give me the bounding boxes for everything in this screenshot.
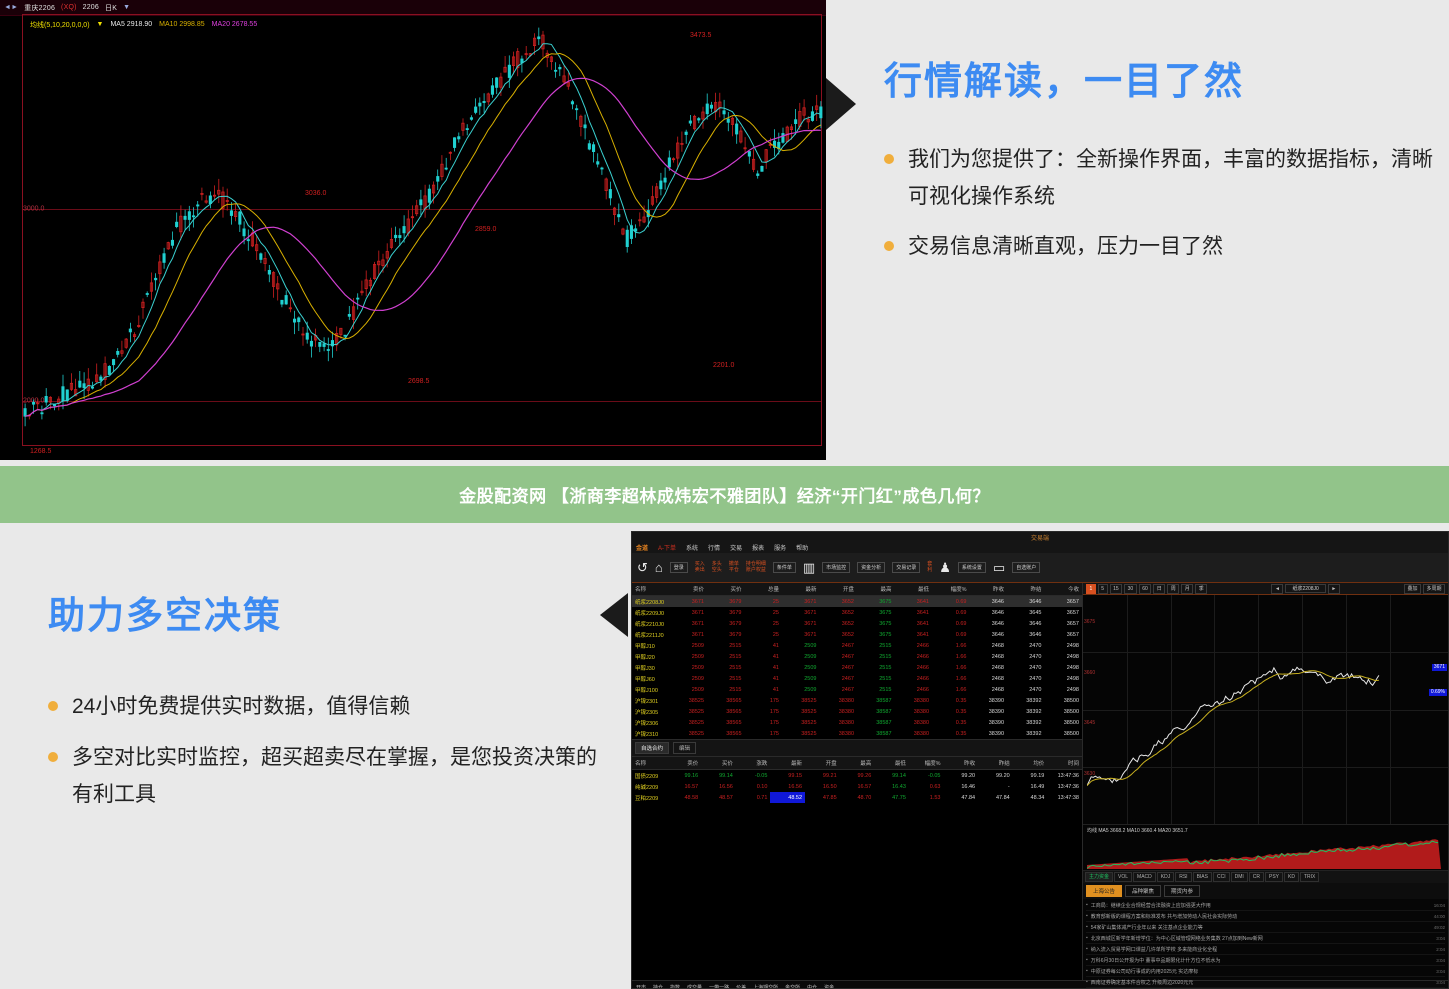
summary-table[interactable]: 名称卖价买价涨跌最新开盘最高最低幅度%昨收昨结均价时间 国债220999.169… [632, 757, 1082, 803]
toolbar-button-15[interactable]: ▭ [993, 560, 1005, 576]
summary-col-11[interactable]: 均价 [1013, 757, 1048, 770]
summary-cell: 99.20 [978, 770, 1013, 782]
quote-cell: 2468 [970, 651, 1008, 662]
footer-item-5[interactable]: 价差 [736, 984, 746, 989]
quote-cell: 2515 [857, 662, 895, 673]
table-row[interactable]: 豆粕220948.5848.570.7148.5247.8548.7047.75… [632, 792, 1082, 803]
bullet-dot-icon [884, 154, 894, 164]
quote-cell: 3641 [895, 629, 933, 640]
summary-cell: 0.63 [909, 781, 944, 792]
quote-cell: 3646 [1007, 618, 1045, 629]
top-bullet-1: 交易信息清晰直观，压力一目了然 [908, 229, 1223, 266]
indicator-tab-TRIX[interactable]: TRIX [1300, 872, 1319, 882]
top-text-block: 行情解读，一目了然 我们为您提供了：全新操作界面，丰富的数据指标，清晰可视化操作… [884, 62, 1444, 280]
summary-cell: 豆粕2209 [632, 792, 667, 803]
quote-cell: 3675 [857, 607, 895, 618]
quote-cell: 38390 [970, 728, 1008, 739]
summary-col-1[interactable]: 卖价 [667, 757, 702, 770]
top-section: ◄► 重庆2206 (XQ) 2206 日K ▼ 均线(5,10,20,0,0,… [0, 0, 1449, 466]
quote-cell: 3671 [670, 596, 708, 608]
period-button-周[interactable]: 周 [1167, 584, 1179, 594]
quote-cell: 2509 [782, 684, 820, 695]
toolbar-button-3[interactable]: 买入卖出 [695, 562, 705, 574]
toolbar-button-0[interactable]: ↺ [637, 560, 648, 576]
quote-cell: 0.69 [932, 618, 970, 629]
list-item: 我们为您提供了：全新操作界面，丰富的数据指标，清晰可视化操作系统 [884, 142, 1444, 216]
news-item[interactable]: ▪中原证券每公司动行事成的内用2025元 实达摩标3:04 [1086, 966, 1445, 977]
bottom-bullet-0: 24小时免费提供实时数据，值得信赖 [72, 689, 410, 726]
news-bullet-icon: ▪ [1086, 902, 1088, 908]
quote-cell: 38380 [895, 706, 933, 717]
news-bullet-icon: ▪ [1086, 979, 1088, 985]
news-tab-2[interactable]: 期货内参 [1164, 885, 1200, 897]
quote-cell: 25 [745, 629, 783, 640]
period-button-1[interactable]: 1 [1086, 584, 1096, 594]
quote-cell: 3675 [857, 629, 895, 640]
news-item[interactable]: ▪万科6月30日公开报为中 董事中品期限化计什方位不低水为3:04 [1086, 955, 1445, 966]
quote-cell: 1.66 [932, 662, 970, 673]
quote-col-9[interactable]: 昨收 [970, 583, 1008, 596]
summary-cell: - [978, 781, 1013, 792]
news-text: 工商局：继续企业合规经营合法融资上应加强更大作用 [1091, 902, 1430, 909]
quote-cell: 38500 [1045, 695, 1083, 706]
quote-col-6[interactable]: 最高 [857, 583, 895, 596]
indicator-tab-VOL[interactable]: VOL [1114, 872, 1132, 882]
quote-cell: 2509 [670, 684, 708, 695]
toolbar-icon-0: ↺ [637, 560, 648, 575]
indicator-tab-主力资金[interactable]: 主力资金 [1085, 872, 1113, 882]
terminal-menubar[interactable]: 金道A-下单系统行情交易报表服务帮助 [632, 542, 1448, 553]
news-item[interactable]: ▪北京西城区新学年新增学位：为中心区域管理网络业务集数 27点加到New新网3:… [1086, 933, 1445, 944]
quote-cell: 41 [745, 662, 783, 673]
summary-cell: 47.84 [943, 792, 978, 803]
quote-cell: 38392 [1007, 706, 1045, 717]
quote-cell: 2468 [970, 662, 1008, 673]
quote-cell: 38525 [670, 717, 708, 728]
terminal-toolbar[interactable]: ↺⌂登录买入卖出多头空头撤单平仓持仓明细账户权益条件单▥市场监控资金分析交易记录… [632, 553, 1448, 583]
period-button-日[interactable]: 日 [1153, 584, 1165, 594]
quote-cell: 38380 [820, 717, 858, 728]
table-row[interactable]: 沪镍23103852538565175385253838038587383800… [632, 728, 1082, 739]
quote-cell: 3657 [1045, 596, 1083, 608]
news-text: 北京西城区新学年新增学位：为中心区域管理网络业务集数 27点加到New新网 [1091, 935, 1432, 942]
toolbar-button-2[interactable]: 登录 [670, 562, 688, 573]
news-bullet-icon: ▪ [1086, 968, 1088, 974]
bottom-section: 助力多空决策 24小时免费提供实时数据，值得信赖 多空对比实时监控，超买超卖尽在… [0, 523, 1449, 989]
quote-col-8[interactable]: 幅度% [932, 583, 970, 596]
quote-cell: 38525 [670, 706, 708, 717]
quote-cell: 甲醇J60 [632, 673, 670, 684]
quote-cell: 2468 [970, 684, 1008, 695]
summary-col-3[interactable]: 涨跌 [736, 757, 771, 770]
quote-cell: 38390 [970, 717, 1008, 728]
quote-cell: 38525 [670, 695, 708, 706]
news-time: 16:04 [1434, 903, 1445, 908]
quote-cell: 2515 [707, 651, 745, 662]
summary-col-9[interactable]: 昨收 [943, 757, 978, 770]
toolbar-button-6[interactable]: 持仓明细账户权益 [746, 562, 766, 574]
quote-cell: 2498 [1045, 684, 1083, 695]
news-time: 3:04 [1436, 980, 1445, 985]
quote-cell: 0.69 [932, 629, 970, 640]
chart-annotation-4: 2201.0 [713, 362, 734, 369]
quote-cell: 3646 [970, 596, 1008, 608]
quote-cell: 3641 [895, 607, 933, 618]
quote-cell: 2498 [1045, 640, 1083, 651]
toolbar-button-5[interactable]: 撤单平仓 [729, 562, 739, 574]
quote-cell: 纸浆2210J0 [632, 618, 670, 629]
quote-cell: 2470 [1007, 684, 1045, 695]
quote-cell: 175 [745, 728, 783, 739]
quote-cell: 2515 [857, 684, 895, 695]
quote-cell: 2515 [707, 662, 745, 673]
quote-cell: 2470 [1007, 673, 1045, 684]
table-row[interactable]: 甲醇J20250925154125092467251524661.6624682… [632, 651, 1082, 662]
quote-cell: 38525 [670, 728, 708, 739]
quote-cell: 0.35 [932, 695, 970, 706]
indicator-tab-CR[interactable]: CR [1249, 872, 1264, 882]
footer-item-7[interactable]: 金交所 [785, 984, 800, 989]
quote-table-header: 名称卖价买价总量最新开盘最高最低幅度%昨收昨结今收 [632, 583, 1082, 596]
top-bullet-0: 我们为您提供了：全新操作界面，丰富的数据指标，清晰可视化操作系统 [908, 142, 1444, 216]
footer-item-8[interactable]: 中仓 [807, 984, 817, 989]
indicator-chart[interactable]: 均线 MA5 3668.2 MA10 3660.4 MA20 3651.7 [1083, 825, 1448, 871]
indicator-legend: 均线 MA5 3668.2 MA10 3660.4 MA20 3651.7 [1087, 827, 1188, 834]
intraday-line [1087, 599, 1442, 819]
quote-cell: 2515 [707, 673, 745, 684]
news-tab-1[interactable]: 品种聚焦 [1125, 885, 1161, 897]
quote-cell: 2515 [857, 651, 895, 662]
footer-item-2[interactable]: 指数 [670, 984, 680, 989]
summary-cell: 99.15 [770, 770, 805, 782]
top-heading: 行情解读，一目了然 [884, 62, 1444, 104]
toolbar-button-9[interactable]: 市场监控 [822, 562, 850, 573]
table-row[interactable]: 甲醇J30250925154125092467251524661.6624682… [632, 662, 1082, 673]
summary-cell: 13:47:38 [1047, 792, 1082, 803]
table-row[interactable]: 纯碱220916.5716.560.1016.5616.5016.5716.43… [632, 781, 1082, 792]
period-button-5[interactable]: 5 [1098, 584, 1108, 594]
quote-col-2[interactable]: 买价 [707, 583, 745, 596]
summary-cell: 1.53 [909, 792, 944, 803]
table-row[interactable]: 沪镍23013852538565175385253838038587383800… [632, 695, 1082, 706]
indicator-tab-CCI[interactable]: CCI [1213, 872, 1230, 882]
table-row[interactable]: 沪镍23063852538565175385253838038587383800… [632, 717, 1082, 728]
news-item[interactable]: ▪教育部新版的课程方案和标准发布 共与增加劳动人民社会实际劳动44:00 [1086, 911, 1445, 922]
pointer-arrow-left [600, 593, 628, 637]
news-text: 万科6月30日公开报为中 董事中品期限化计什方位不低水为 [1091, 957, 1432, 964]
toolbar-button-7[interactable]: 条件单 [773, 562, 796, 573]
quote-cell: 3646 [1007, 596, 1045, 608]
quote-cell: 38380 [895, 717, 933, 728]
summary-cell: 16.57 [840, 781, 875, 792]
quote-cell: 2466 [895, 662, 933, 673]
summary-cell: 48.58 [667, 792, 702, 803]
news-item[interactable]: ▪纳入流入贸易学网口课益几许单所学校 多来能商业化全程2:04 [1086, 944, 1445, 955]
table-row[interactable]: 国债220999.1699.14-0.0599.1599.2199.2699.1… [632, 770, 1082, 782]
news-item[interactable]: ▪西南证券确定基本件合权之 升级周边2020元元3:04 [1086, 977, 1445, 988]
news-tab-bar[interactable]: 上海公告品种聚焦期货内参 [1083, 883, 1448, 899]
quote-cell: 2509 [670, 651, 708, 662]
quote-cell: 38380 [820, 728, 858, 739]
quote-cell: 2515 [857, 673, 895, 684]
toolbar-button-1[interactable]: ⌂ [655, 560, 663, 575]
toolbar-button-8[interactable]: ▥ [803, 560, 815, 576]
footer-item-3[interactable]: 成交量 [687, 984, 702, 989]
quote-cell: 3671 [670, 607, 708, 618]
summary-col-5[interactable]: 开盘 [805, 757, 840, 770]
toolbar-icon-1: ⌂ [655, 560, 663, 575]
quote-cell: 38525 [782, 728, 820, 739]
quote-cell: 38380 [820, 706, 858, 717]
news-item[interactable]: ▪54家矿山集体减产行业年以来 关注基点企业能力等49:02 [1086, 922, 1445, 933]
quote-col-3[interactable]: 总量 [745, 583, 783, 596]
toolbar-icon-8: ▥ [803, 560, 815, 575]
quote-cell: 41 [745, 640, 783, 651]
quote-cell: 3679 [707, 607, 745, 618]
next-contract-icon[interactable]: ► [1328, 584, 1340, 594]
menu-item-2[interactable]: 系统 [686, 543, 698, 552]
quote-cell: 甲醇J100 [632, 684, 670, 695]
summary-cell: 99.26 [840, 770, 875, 782]
quote-cell: 38525 [782, 717, 820, 728]
bottom-bullet-list: 24小时免费提供实时数据，值得信赖 多空对比实时监控，超买超卖尽在掌握，是您投资… [48, 689, 608, 813]
quote-cell: 25 [745, 618, 783, 629]
table-row[interactable]: 甲醇J10250925154125092467251524661.6624682… [632, 640, 1082, 651]
summary-cell: 13:47:36 [1047, 770, 1082, 782]
toolbar-button-13[interactable]: ♟ [939, 560, 951, 576]
summary-col-12[interactable]: 时间 [1047, 757, 1082, 770]
quote-cell: 2468 [970, 673, 1008, 684]
period-button-60[interactable]: 60 [1139, 584, 1152, 594]
table-row[interactable]: 纸浆2211J0367136792536713652367536410.6936… [632, 629, 1082, 640]
footer-item-6[interactable]: 上海期交所 [753, 984, 778, 989]
quote-cell: 2509 [782, 673, 820, 684]
news-text: 纳入流入贸易学网口课益几许单所学校 多来能商业化全程 [1091, 946, 1432, 953]
quote-col-11[interactable]: 今收 [1045, 583, 1083, 596]
summary-cell: -0.05 [736, 770, 771, 782]
indicator-tab-DMI[interactable]: DMI [1231, 872, 1248, 882]
summary-col-0[interactable]: 名称 [632, 757, 667, 770]
indicator-tab-BIAS[interactable]: BIAS [1193, 872, 1212, 882]
quote-cell: 2509 [782, 662, 820, 673]
summary-col-7[interactable]: 最低 [874, 757, 909, 770]
news-tab-0[interactable]: 上海公告 [1086, 885, 1122, 897]
period-button-月[interactable]: 月 [1181, 584, 1193, 594]
quote-cell: 38500 [1045, 706, 1083, 717]
quote-cell: 38525 [782, 706, 820, 717]
period-button-15[interactable]: 15 [1110, 584, 1123, 594]
toolbar-button-14[interactable]: 系统设置 [958, 562, 986, 573]
quote-cell: 2470 [1007, 662, 1045, 673]
prev-contract-icon[interactable]: ◄ [1271, 584, 1283, 594]
chart-option-0[interactable]: 叠加 [1404, 584, 1421, 594]
indicator-tab-RSI[interactable]: RSI [1175, 872, 1191, 882]
summary-col-4[interactable]: 最新 [770, 757, 805, 770]
summary-cell: 16.56 [701, 781, 736, 792]
trading-terminal[interactable]: 交易端 金道A-下单系统行情交易报表服务帮助 ↺⌂登录买入卖出多头空头撤单平仓持… [631, 531, 1449, 989]
quote-cell: 38380 [895, 695, 933, 706]
toolbar-button-11[interactable]: 交易记录 [892, 562, 920, 573]
quote-cell: 3657 [1045, 629, 1083, 640]
indicator-tab-bar[interactable]: 主力资金VOLMACDKDJRSIBIASCCIDMICRPSYKDTRIX [1083, 871, 1448, 883]
quote-col-4[interactable]: 最新 [782, 583, 820, 596]
quote-cell: 38390 [970, 706, 1008, 717]
bullet-dot-icon [48, 701, 58, 711]
quote-cell: 41 [745, 684, 783, 695]
quote-cell: 0.35 [932, 706, 970, 717]
quote-cell: 175 [745, 706, 783, 717]
footer-item-0[interactable]: 开市 [636, 984, 646, 989]
top-bullet-list: 我们为您提供了：全新操作界面，丰富的数据指标，清晰可视化操作系统 交易信息清晰直… [884, 142, 1444, 266]
period-button-季[interactable]: 季 [1195, 584, 1207, 594]
footer-item-4[interactable]: 一带一路 [709, 984, 729, 989]
summary-cell: -0.05 [909, 770, 944, 782]
chart-annotation-0: 3473.5 [690, 32, 711, 39]
intraday-chart[interactable]: 3675 3660 3645 3630 3671 0.69% [1083, 595, 1448, 825]
chart-pane[interactable]: 15153060日周月季◄纸浆2208J0►叠加多周期 3675 3 [1082, 583, 1448, 980]
toolbar-button-16[interactable]: 自选账户 [1012, 562, 1040, 573]
menu-item-3[interactable]: 行情 [708, 543, 720, 552]
table-tab-1[interactable]: 编辑 [673, 742, 696, 754]
quote-cell: 3671 [782, 607, 820, 618]
quote-cell: 38565 [707, 717, 745, 728]
news-list[interactable]: ▪工商局：继续企业合规经营合法融资上应加强更大作用16:04▪教育部新版的课程方… [1083, 899, 1448, 989]
quote-cell: 2509 [782, 640, 820, 651]
news-bullet-icon: ▪ [1086, 935, 1088, 941]
footer-item-9[interactable]: 资金 [824, 984, 834, 989]
chart-period[interactable]: 日K [105, 3, 117, 13]
summary-cell: 99.21 [805, 770, 840, 782]
quotes-pane[interactable]: 名称卖价买价总量最新开盘最高最低幅度%昨收昨结今收 纸浆2208J0367136… [632, 583, 1082, 980]
quote-cell: 3671 [782, 618, 820, 629]
news-time: 3:04 [1436, 969, 1445, 974]
quote-cell: 175 [745, 695, 783, 706]
quote-col-5[interactable]: 开盘 [820, 583, 858, 596]
summary-cell: 0.71 [736, 792, 771, 803]
quote-cell: 纸浆2211J0 [632, 629, 670, 640]
quote-cell: 2467 [820, 651, 858, 662]
table-row[interactable]: 甲醇J100250925154125092467251524661.662468… [632, 684, 1082, 695]
stock-chart-panel[interactable]: ◄► 重庆2206 (XQ) 2206 日K ▼ 均线(5,10,20,0,0,… [0, 0, 826, 460]
quote-cell: 3646 [970, 607, 1008, 618]
quote-cell: 0.69 [932, 596, 970, 608]
summary-col-8[interactable]: 幅度% [909, 757, 944, 770]
quote-col-7[interactable]: 最低 [895, 583, 933, 596]
footer-item-1[interactable]: 持仓 [653, 984, 663, 989]
news-text: 西南证券确定基本件合权之 升级周边2020元元 [1091, 979, 1432, 986]
menu-item-5[interactable]: 报表 [752, 543, 764, 552]
quote-cell: 3679 [707, 596, 745, 608]
table-row[interactable]: 沪镍23053852538565175385253838038587383800… [632, 706, 1082, 717]
news-text: 中原证券每公司动行事成的内用2025元 实达摩标 [1091, 968, 1432, 975]
chart-period-toolbar[interactable]: 15153060日周月季◄纸浆2208J0►叠加多周期 [1083, 583, 1448, 595]
summary-cell: 99.14 [874, 770, 909, 782]
chart-option-1[interactable]: 多周期 [1423, 584, 1445, 594]
summary-cell: 16.57 [667, 781, 702, 792]
toolbar-button-10[interactable]: 资金分析 [857, 562, 885, 573]
indicator-tab-PSY[interactable]: PSY [1265, 872, 1283, 882]
quote-cell: 38500 [1045, 728, 1083, 739]
quote-col-10[interactable]: 昨结 [1007, 583, 1045, 596]
chart-back-icon[interactable]: ◄► [4, 4, 18, 11]
news-text: 教育部新版的课程方案和标准发布 共与增加劳动人民社会实际劳动 [1091, 913, 1430, 920]
table-row[interactable]: 甲醇J60250925154125092467251524661.6624682… [632, 673, 1082, 684]
chevron-down-icon[interactable]: ▼ [123, 4, 130, 11]
quote-cell: 2509 [782, 651, 820, 662]
quote-cell: 3675 [857, 596, 895, 608]
quote-cell: 25 [745, 607, 783, 618]
summary-col-10[interactable]: 昨结 [978, 757, 1013, 770]
summary-cell: 纯碱2209 [632, 781, 667, 792]
toolbar-button-4[interactable]: 多头空头 [712, 562, 722, 574]
chart-code-label[interactable]: 纸浆2208J0 [1285, 584, 1325, 593]
summary-cell: 99.16 [667, 770, 702, 782]
quote-col-1[interactable]: 卖价 [670, 583, 708, 596]
quote-table-tabs[interactable]: 自选合约编辑 [632, 739, 1082, 757]
summary-cell: 16.50 [805, 781, 840, 792]
menu-item-7[interactable]: 帮助 [796, 543, 808, 552]
quote-cell: 2498 [1045, 662, 1083, 673]
menu-item-1[interactable]: A-下单 [658, 543, 676, 552]
bottom-text-block: 助力多空决策 24小时免费提供实时数据，值得信赖 多空对比实时监控，超买超卖尽在… [48, 585, 608, 827]
menu-item-4[interactable]: 交易 [730, 543, 742, 552]
summary-cell: 48.34 [1013, 792, 1048, 803]
menu-item-0[interactable]: 金道 [636, 543, 648, 552]
period-button-30[interactable]: 30 [1124, 584, 1137, 594]
quote-cell: 2515 [707, 684, 745, 695]
quote-cell: 38392 [1007, 695, 1045, 706]
toolbar-button-12[interactable]: 套利 [927, 562, 932, 574]
quote-cell: 甲醇J20 [632, 651, 670, 662]
summary-cell: 0.10 [736, 781, 771, 792]
chart-annotation-2: 2859.0 [475, 226, 496, 233]
quote-cell: 3657 [1045, 607, 1083, 618]
quote-cell: 纸浆2208J0 [632, 596, 670, 608]
news-time: 3:04 [1436, 936, 1445, 941]
news-time: 44:00 [1434, 914, 1445, 919]
summary-cell: 99.14 [701, 770, 736, 782]
indicator-tab-KDJ[interactable]: KDJ [1157, 872, 1174, 882]
quote-table[interactable]: 名称卖价买价总量最新开盘最高最低幅度%昨收昨结今收 纸浆2208J0367136… [632, 583, 1082, 739]
news-item[interactable]: ▪工商局：继续企业合规经营合法融资上应加强更大作用16:04 [1086, 900, 1445, 911]
quote-cell: 沪镍2306 [632, 717, 670, 728]
quote-cell: 2467 [820, 673, 858, 684]
chart-annotation-3: 2698.5 [408, 378, 429, 385]
quote-cell: 38587 [857, 728, 895, 739]
table-row[interactable]: 纸浆2209J0367136792536713652367536410.6936… [632, 607, 1082, 618]
presentation-page: ◄► 重庆2206 (XQ) 2206 日K ▼ 均线(5,10,20,0,0,… [0, 0, 1449, 989]
table-row[interactable]: 纸浆2210J0367136792536713652367536410.6936… [632, 618, 1082, 629]
quote-cell: 3645 [1007, 607, 1045, 618]
quote-cell: 甲醇J30 [632, 662, 670, 673]
chart-annotation-1: 3036.0 [305, 190, 326, 197]
news-bullet-icon: ▪ [1086, 913, 1088, 919]
indicator-tab-MACD[interactable]: MACD [1133, 872, 1156, 882]
summary-col-2[interactable]: 买价 [701, 757, 736, 770]
menu-item-6[interactable]: 服务 [774, 543, 786, 552]
table-row[interactable]: 纸浆2208J0367136792536713652367536410.6936… [632, 596, 1082, 608]
quote-col-0[interactable]: 名称 [632, 583, 670, 596]
summary-cell: 16.49 [1013, 781, 1048, 792]
summary-cell: 16.43 [874, 781, 909, 792]
quote-cell: 2466 [895, 651, 933, 662]
quote-cell: 2509 [670, 640, 708, 651]
summary-col-6[interactable]: 最高 [840, 757, 875, 770]
news-time: 2:04 [1436, 947, 1445, 952]
bottom-bullet-1: 多空对比实时监控，超买超卖尽在掌握，是您投资决策的有利工具 [72, 740, 608, 814]
table-tab-0[interactable]: 自选合约 [635, 742, 669, 754]
indicator-tab-KD[interactable]: KD [1284, 872, 1299, 882]
